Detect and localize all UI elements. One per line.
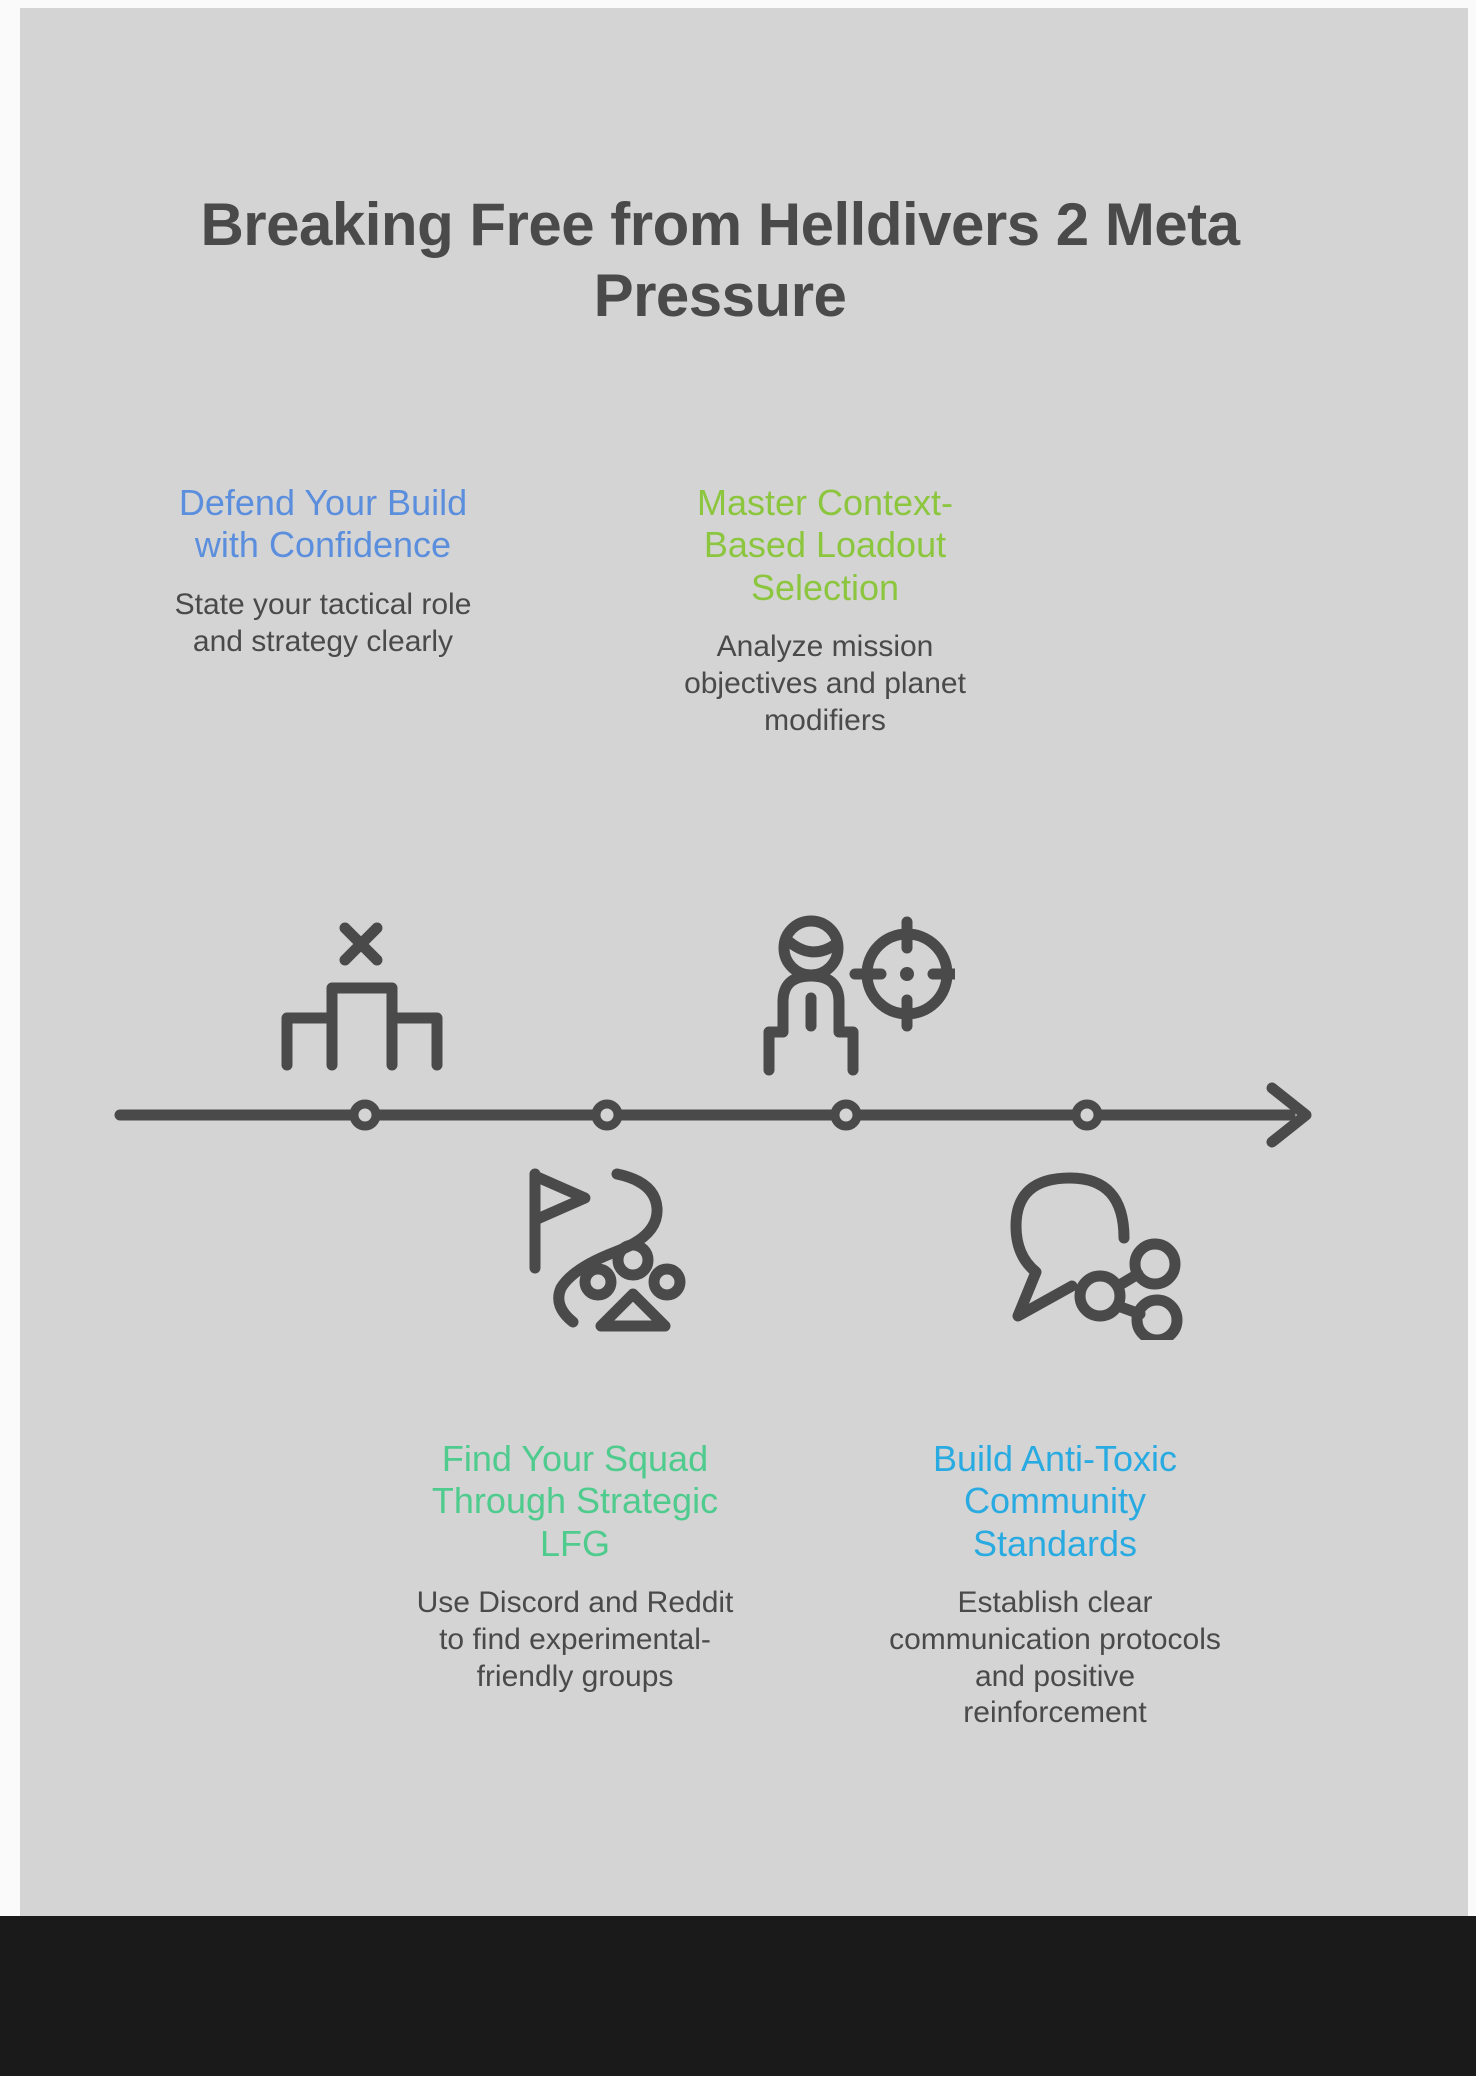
step-card-4: Build Anti-Toxic Community Standards Est… <box>880 1438 1230 1732</box>
timeline-node <box>835 1104 857 1126</box>
step-heading-4: Build Anti-Toxic Community Standards <box>880 1438 1230 1565</box>
page-title: Breaking Free from Helldivers 2 Meta Pre… <box>120 190 1320 332</box>
timeline-node <box>1076 1104 1098 1126</box>
timeline-node <box>354 1104 376 1126</box>
step-card-2: Master Context-Based Loadout Selection A… <box>655 482 995 739</box>
chat-share-icon <box>1000 1160 1200 1345</box>
flag-path-paw-icon <box>515 1160 705 1345</box>
timeline-node <box>596 1104 618 1126</box>
step-body-1: State your tactical role and strategy cl… <box>168 587 478 660</box>
step-heading-3: Find Your Squad Through Strategic LFG <box>400 1438 750 1565</box>
step-body-2: Analyze mission objectives and planet mo… <box>655 629 995 739</box>
step-card-3: Find Your Squad Through Strategic LFG Us… <box>400 1438 750 1695</box>
step-body-4: Establish clear communication protocols … <box>880 1585 1230 1731</box>
soldier-crosshair-icon <box>755 910 955 1085</box>
infographic-page: Breaking Free from Helldivers 2 Meta Pre… <box>0 0 1476 2076</box>
step-heading-1: Defend Your Build with Confidence <box>168 482 478 567</box>
step-body-3: Use Discord and Reddit to find experimen… <box>400 1585 750 1695</box>
podium-x-icon <box>270 910 460 1085</box>
timeline-axis <box>0 1080 1476 1150</box>
bottom-band <box>0 1916 1476 2076</box>
step-heading-2: Master Context-Based Loadout Selection <box>655 482 995 609</box>
step-card-1: Defend Your Build with Confidence State … <box>168 482 478 660</box>
